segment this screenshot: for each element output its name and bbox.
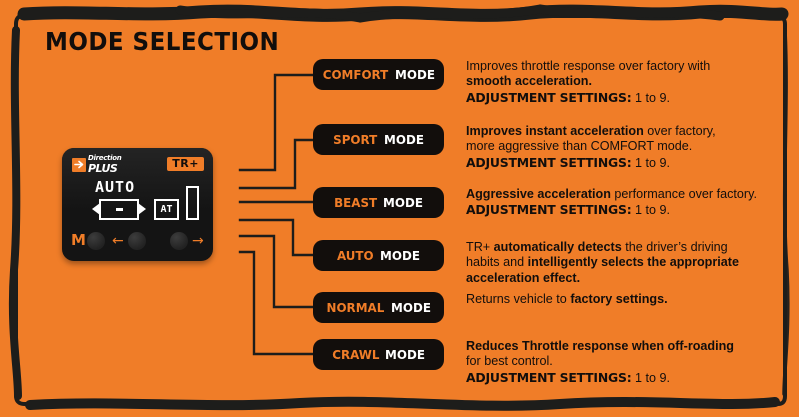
adjustment-label: ADJUSTMENT SETTINGS:: [466, 155, 631, 170]
mode-pill-name: AUTO: [337, 248, 374, 263]
mode-row-normal[interactable]: NORMAL MODE Returns vehicle to factory s…: [313, 292, 783, 323]
desc-plain: the driver’s driving: [622, 240, 728, 254]
desc-line: Reduces Throttle response when off-roadi…: [466, 339, 734, 354]
mode-description-comfort: Improves throttle response over factory …: [466, 59, 710, 106]
mode-pill-suffix: MODE: [380, 248, 420, 263]
desc-plain: for best control.: [466, 354, 553, 368]
desc-plain: performance over factory.: [611, 187, 757, 201]
desc-plain: over factory,: [644, 124, 716, 138]
connector-comfort: [240, 75, 313, 170]
adjustment-value: 1 to 9.: [631, 371, 670, 385]
connector-normal: [240, 236, 313, 307]
mode-row-comfort[interactable]: COMFORT MODE Improves throttle response …: [313, 59, 783, 106]
screen-level-bar: [186, 186, 199, 220]
mode-description-auto: TR+ automatically detects the driver’s d…: [466, 240, 739, 286]
mode-pill-sport[interactable]: SPORT MODE: [313, 124, 444, 155]
mode-pill-crawl[interactable]: CRAWL MODE: [313, 339, 444, 370]
mode-pill-suffix: MODE: [385, 347, 425, 362]
desc-line: ADJUSTMENT SETTINGS: 1 to 9.: [466, 90, 710, 106]
desc-bold: Reduces Throttle response when off-roadi…: [466, 339, 734, 353]
mode-row-auto[interactable]: AUTO MODE TR+ automatically detects the …: [313, 240, 783, 286]
direction-plus-logo: Direction PLUS: [72, 155, 121, 174]
device-up-button[interactable]: [170, 232, 188, 250]
mode-button-label: M: [71, 233, 86, 248]
device-button-row: M ← →: [62, 229, 213, 255]
trplus-badge: TR+: [167, 157, 204, 171]
mode-pill-name: SPORT: [333, 132, 377, 147]
mode-selection-infographic: MODE SELECTION Direction PLUS TR+ AUTO A…: [0, 0, 799, 417]
desc-line: ADJUSTMENT SETTINGS: 1 to 9.: [466, 202, 757, 218]
brand-wordmark: Direction PLUS: [88, 155, 121, 174]
desc-plain: TR+: [466, 240, 494, 254]
desc-plain: Improves throttle response over factory …: [466, 59, 710, 73]
screen-transmission-indicator: AT: [154, 199, 179, 220]
desc-bold: Improves instant acceleration: [466, 124, 644, 138]
desc-bold: smooth acceleration.: [466, 74, 592, 88]
desc-plain: habits and: [466, 255, 528, 269]
brand-direction: Direction: [88, 155, 121, 162]
mode-pill-suffix: MODE: [395, 67, 435, 82]
adjustment-label: ADJUSTMENT SETTINGS:: [466, 370, 631, 385]
desc-bold: automatically detects: [494, 240, 622, 254]
throttle-controller-device: Direction PLUS TR+ AUTO AT M ← →: [62, 148, 213, 261]
mode-pill-name: COMFORT: [323, 67, 389, 82]
desc-plain: more aggressive than COMFORT mode.: [466, 139, 692, 153]
desc-line: ADJUSTMENT SETTINGS: 1 to 9.: [466, 370, 734, 386]
mode-pill-suffix: MODE: [383, 195, 423, 210]
mode-description-crawl: Reduces Throttle response when off-roadi…: [466, 339, 734, 386]
adjustment-value: 1 to 9.: [631, 91, 670, 105]
adjustment-value: 1 to 9.: [631, 203, 670, 217]
mode-pill-beast[interactable]: BEAST MODE: [313, 187, 444, 218]
desc-bold: acceleration effect.: [466, 271, 580, 285]
device-screen: AUTO AT: [62, 180, 213, 228]
mode-pill-auto[interactable]: AUTO MODE: [313, 240, 444, 271]
desc-line: smooth acceleration.: [466, 74, 710, 89]
desc-line: for best control.: [466, 354, 734, 369]
mode-pill-suffix: MODE: [391, 300, 431, 315]
desc-bold: factory settings.: [570, 292, 667, 306]
mode-row-beast[interactable]: BEAST MODE Aggressive acceleration perfo…: [313, 187, 783, 219]
brand-plus: PLUS: [88, 163, 121, 174]
mode-row-crawl[interactable]: CRAWL MODE Reduces Throttle response whe…: [313, 339, 783, 386]
desc-line: more aggressive than COMFORT mode.: [466, 139, 716, 154]
connector-auto: [240, 220, 313, 255]
page-title: MODE SELECTION: [45, 27, 279, 56]
device-mode-button[interactable]: [87, 232, 105, 250]
left-arrow-icon: ←: [112, 234, 124, 248]
mode-pill-comfort[interactable]: COMFORT MODE: [313, 59, 444, 90]
desc-line: TR+ automatically detects the driver’s d…: [466, 240, 739, 255]
mode-description-beast: Aggressive acceleration performance over…: [466, 187, 757, 219]
selector-dash-icon: [116, 208, 123, 211]
desc-line: Improves throttle response over factory …: [466, 59, 710, 74]
mode-pill-normal[interactable]: NORMAL MODE: [313, 292, 444, 323]
arrow-logo-icon: [72, 158, 86, 172]
mode-pill-suffix: MODE: [384, 132, 424, 147]
desc-line: habits and intelligently selects the app…: [466, 255, 739, 270]
adjustment-label: ADJUSTMENT SETTINGS:: [466, 90, 631, 105]
desc-plain: Returns vehicle to: [466, 292, 570, 306]
desc-line: acceleration effect.: [466, 271, 739, 286]
device-down-button[interactable]: [128, 232, 146, 250]
desc-bold: Aggressive acceleration: [466, 187, 611, 201]
connector-crawl: [240, 252, 313, 354]
adjustment-label: ADJUSTMENT SETTINGS:: [466, 202, 631, 217]
mode-row-sport[interactable]: SPORT MODE Improves instant acceleration…: [313, 124, 783, 171]
selector-right-triangle-icon: [138, 203, 146, 215]
screen-level-selector: [92, 199, 146, 220]
screen-mode-readout: AUTO: [95, 180, 135, 195]
mode-pill-name: BEAST: [334, 195, 377, 210]
desc-line: Improves instant acceleration over facto…: [466, 124, 716, 139]
desc-bold: intelligently selects the appropriate: [528, 255, 739, 269]
mode-pill-name: CRAWL: [332, 347, 379, 362]
mode-description-normal: Returns vehicle to factory settings.: [466, 292, 668, 307]
desc-line: ADJUSTMENT SETTINGS: 1 to 9.: [466, 155, 716, 171]
desc-line: Returns vehicle to factory settings.: [466, 292, 668, 307]
mode-pill-name: NORMAL: [327, 300, 385, 315]
connector-sport: [240, 140, 313, 188]
mode-description-sport: Improves instant acceleration over facto…: [466, 124, 716, 171]
desc-line: Aggressive acceleration performance over…: [466, 187, 757, 202]
right-arrow-icon: →: [192, 234, 204, 248]
adjustment-value: 1 to 9.: [631, 156, 670, 170]
